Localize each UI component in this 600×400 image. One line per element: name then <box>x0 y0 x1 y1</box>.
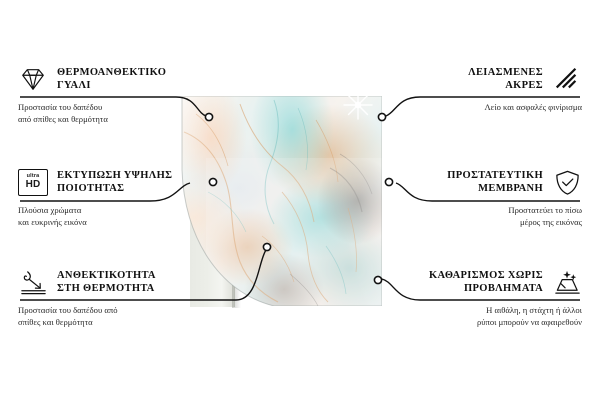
feature-description: Λείο και ασφαλές φινίρισμα <box>386 101 582 113</box>
feature-description: Προστατεύει το πίσω μέρος της εικόνας <box>386 204 582 229</box>
feature-title: ΘΕΡΜΟΑΝΘΕΚΤΙΚΟ ΓΥΑΛΙ <box>57 66 166 93</box>
sparkle-cloth-icon <box>552 267 582 297</box>
ultra-hd-icon: ultra HD <box>18 167 48 197</box>
feature-protective-membrane: ΠΡΟΣΤΑΤΕΥΤΙΚΗ ΜΕΜΒΡΑΝΗ Προστατεύει το πί… <box>386 167 582 229</box>
feature-description: Προστασία του δαπέδου από σπίθες και θερ… <box>18 304 214 329</box>
feature-title: ΑΝΘΕΚΤΙΚΟΤΗΤΑ ΣΤΗ ΘΕΡΜΟΤΗΤΑ <box>57 269 156 296</box>
feature-heat-resistant-glass: ΘΕΡΜΟΑΝΘΕΚΤΙΚΟ ΓΥΑΛΙ Προστασία του δαπέδ… <box>18 64 214 126</box>
feature-description: Η αιθάλη, η στάχτη ή άλλοι ρύποι μπορούν… <box>386 304 582 329</box>
feature-title: ΚΑΘΑΡΙΣΜΟΣ ΧΩΡΙΣ ΠΡΟΒΛΗΜΑΤΑ <box>429 269 543 296</box>
ultra-hd-bottom-label: HD <box>26 180 41 190</box>
flame-deflect-icon <box>18 267 48 297</box>
feature-smooth-edges: ΛΕΙΑΣΜΕΝΕΣ ΑΚΡΕΣ Λείο και ασφαλές φινίρι… <box>386 64 582 113</box>
feature-title: ΠΡΟΣΤΑΤΕΥΤΙΚΗ ΜΕΜΒΡΑΝΗ <box>447 169 543 196</box>
product-feature-infographic: ΘΕΡΜΟΑΝΘΕΚΤΙΚΟ ΓΥΑΛΙ Προστασία του δαπέδ… <box>0 0 600 400</box>
diamond-icon <box>18 64 48 94</box>
feature-title: ΛΕΙΑΣΜΕΝΕΣ ΑΚΡΕΣ <box>468 66 543 93</box>
feature-title: ΕΚΤΥΠΩΣΗ ΥΨΗΛΗΣ ΠΟΙΟΤΗΤΑΣ <box>57 169 172 196</box>
feature-easy-cleaning: ΚΑΘΑΡΙΣΜΟΣ ΧΩΡΙΣ ΠΡΟΒΛΗΜΑΤΑ <box>386 267 582 329</box>
feature-heat-durability: ΑΝΘΕΚΤΙΚΟΤΗΤΑ ΣΤΗ ΘΕΡΜΟΤΗΤΑ Προστασία το… <box>18 267 214 329</box>
feature-high-quality-print: ultra HD ΕΚΤΥΠΩΣΗ ΥΨΗΛΗΣ ΠΟΙΟΤΗΤΑΣ Πλούσ… <box>18 167 214 229</box>
diagonal-stripes-icon <box>552 64 582 94</box>
feature-description: Προστασία του δαπέδου από σπίθες και θερ… <box>18 101 214 126</box>
shield-check-icon <box>552 167 582 197</box>
feature-description: Πλούσια χρώματα και ευκρινής εικόνα <box>18 204 214 229</box>
